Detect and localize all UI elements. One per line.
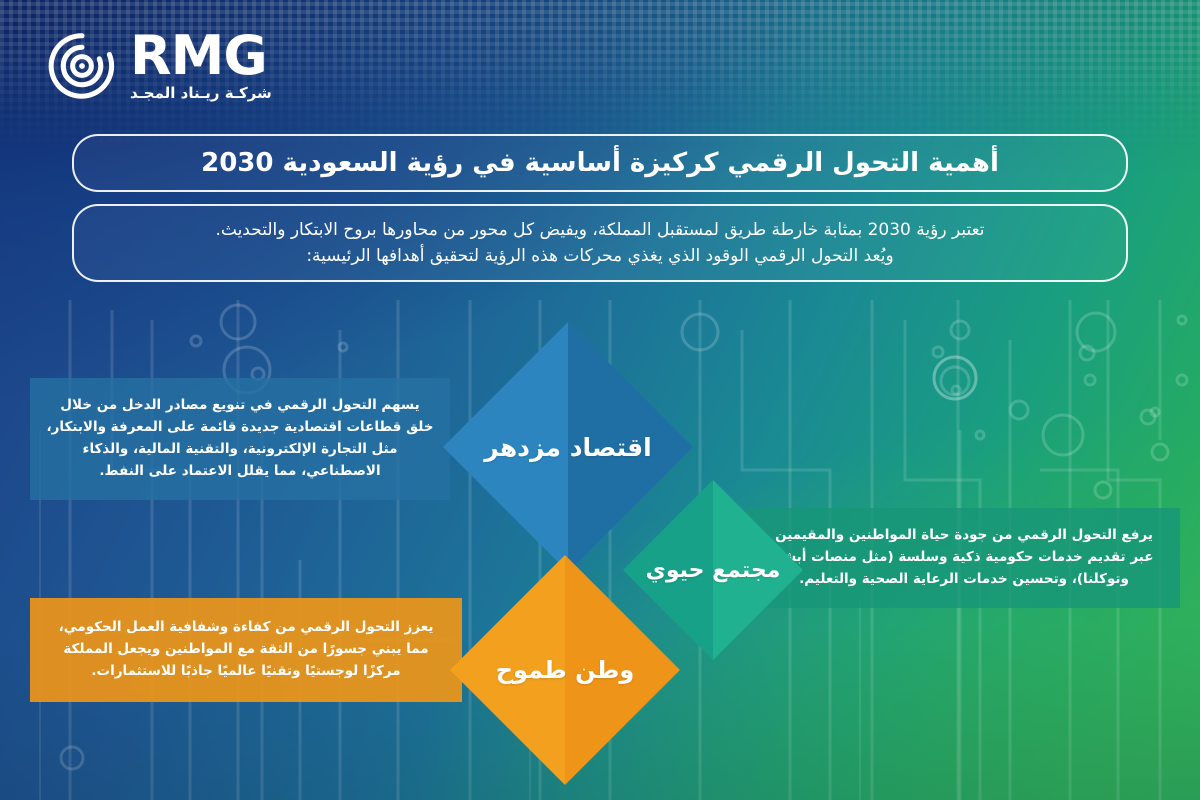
brand-wordmark: RMG bbox=[130, 30, 267, 81]
pillar-economy-description: يسهم التحول الرقمي في تنويع مصادر الدخل … bbox=[46, 395, 434, 482]
infographic-canvas: RMG شركـة ريـناد المجـد أهمية التحول الر… bbox=[0, 0, 1200, 800]
pillar-society-description: يرفع التحول الرقمي من جودة حياة المواطني… bbox=[764, 525, 1164, 591]
page-title: أهمية التحول الرقمي كركيزة أساسية في رؤي… bbox=[201, 148, 999, 178]
pillar-nation-description-panel: يعزز التحول الرقمي من كفاءة وشفافية العم… bbox=[30, 598, 462, 702]
pillar-nation-description: يعزز التحول الرقمي من كفاءة وشفافية العم… bbox=[46, 617, 446, 683]
pillar-society-description-panel: يرفع التحول الرقمي من جودة حياة المواطني… bbox=[748, 508, 1180, 608]
pillar-economy-description-panel: يسهم التحول الرقمي في تنويع مصادر الدخل … bbox=[30, 378, 450, 500]
pillar-society-label: مجتمع حيوي bbox=[646, 558, 781, 583]
pillar-nation-label: وطن طموح bbox=[496, 656, 635, 684]
pillar-nation-diamond[interactable]: وطن طموح bbox=[450, 555, 680, 785]
intro-banner: تعتبر رؤية 2030 بمثابة خارطة طريق لمستقب… bbox=[72, 204, 1128, 282]
intro-line-2: ويُعد التحول الرقمي الوقود الذي يغذي محر… bbox=[215, 243, 984, 269]
headline-banner: أهمية التحول الرقمي كركيزة أساسية في رؤي… bbox=[72, 134, 1128, 192]
brand-logo: RMG شركـة ريـناد المجـد bbox=[46, 24, 336, 108]
pillar-economy-label: اقتصاد مزدهر bbox=[484, 433, 651, 462]
brand-subtitle: شركـة ريـناد المجـد bbox=[130, 84, 272, 102]
rmg-swirl-logo-icon bbox=[46, 30, 118, 102]
intro-line-1: تعتبر رؤية 2030 بمثابة خارطة طريق لمستقب… bbox=[215, 217, 984, 243]
